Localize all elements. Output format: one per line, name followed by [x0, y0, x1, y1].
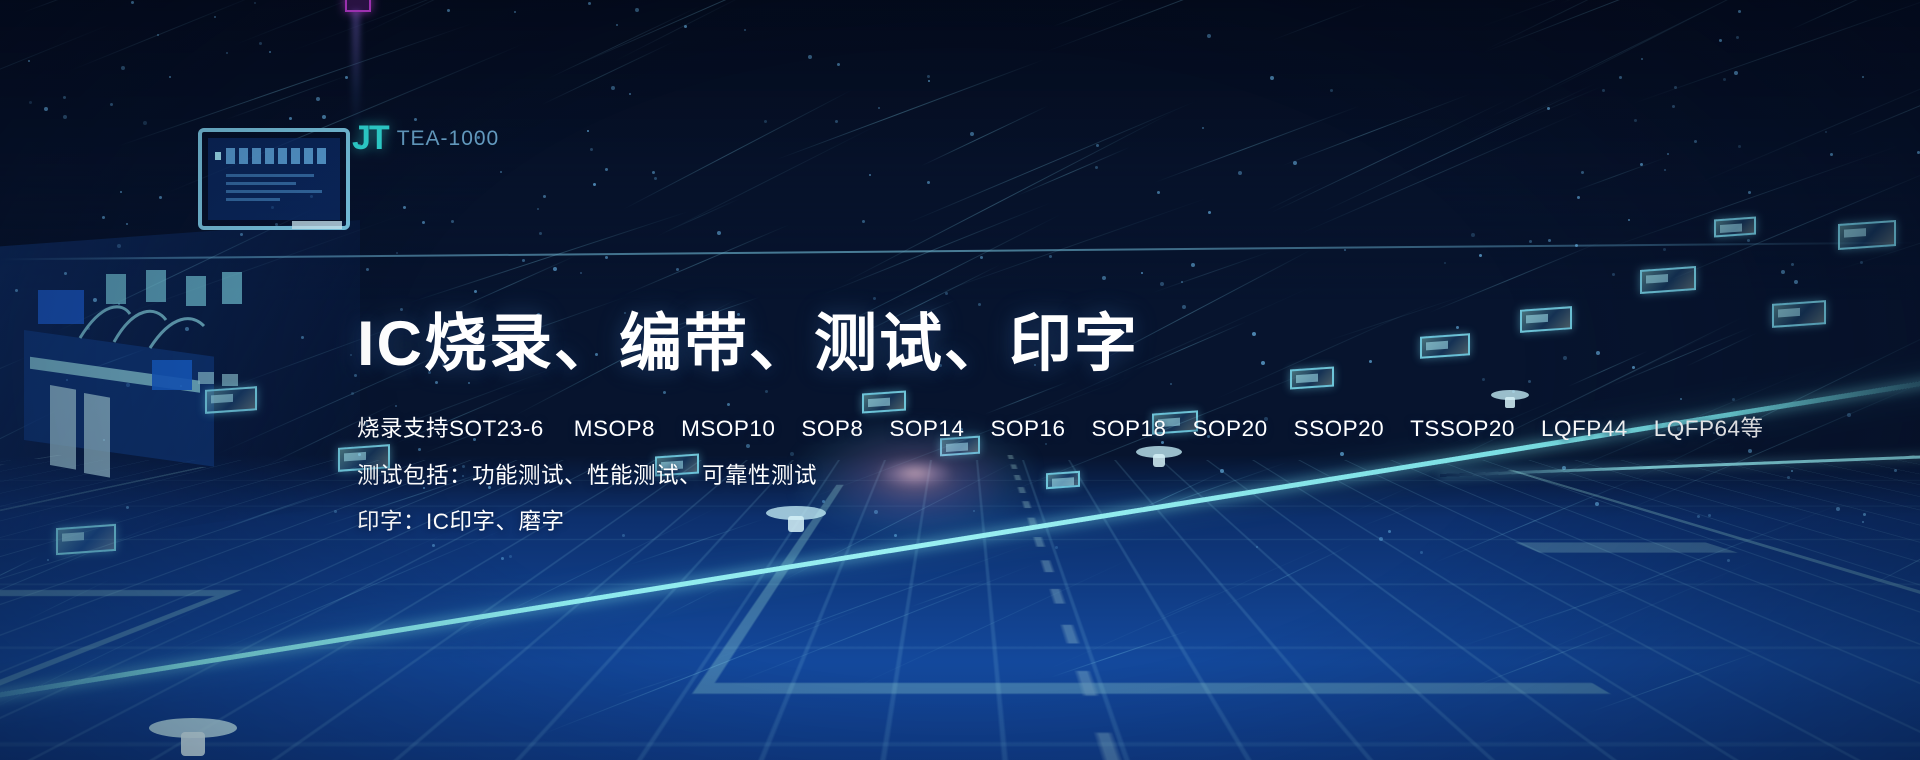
monitor-display-icon — [196, 126, 352, 241]
status-indicator-icon — [345, 0, 371, 12]
light-streak — [1506, 552, 1775, 668]
page-title: IC烧录、编带、测试、印字 — [357, 310, 1617, 378]
light-streak — [562, 0, 893, 72]
light-streak — [546, 5, 701, 80]
light-streak — [614, 0, 754, 62]
light-streak — [1150, 249, 1276, 294]
light-streak — [285, 0, 587, 54]
light-streak — [1460, 94, 1568, 145]
light-streak — [1155, 589, 1223, 620]
light-streak — [1614, 377, 1920, 516]
package-label: SOP16 — [990, 418, 1065, 441]
light-streak — [621, 88, 855, 211]
ic-chip-icon — [1714, 217, 1756, 238]
light-streak — [1573, 157, 1667, 192]
package-label: SSOP20 — [1294, 418, 1385, 441]
package-label: SOP14 — [889, 418, 964, 441]
package-label: SOP8 — [801, 418, 863, 441]
light-streak — [904, 99, 1199, 224]
light-streak — [68, 0, 270, 72]
light-streak — [647, 117, 893, 242]
light-streak — [1479, 0, 1842, 28]
light-streak — [1487, 0, 1799, 119]
logo-model-text: TEA-1000 — [397, 127, 500, 151]
light-streak — [840, 109, 1179, 285]
logo-mark-text: JT — [352, 119, 388, 158]
package-label: MSOP8 — [574, 418, 655, 441]
equipment-logo: JT TEA-1000 — [352, 119, 499, 158]
marking-line: 印字：IC印字、磨字 — [357, 511, 1617, 534]
light-streak — [623, 223, 792, 296]
light-streak — [1791, 0, 1889, 30]
ic-chip-icon — [56, 524, 116, 555]
light-streak — [222, 493, 322, 529]
ic-chip-icon — [1772, 300, 1826, 328]
light-streak — [615, 671, 693, 698]
light-streak — [820, 201, 1053, 296]
light-streak — [26, 579, 111, 621]
light-streak — [0, 595, 227, 721]
light-streak — [662, 586, 724, 618]
pick-head-icon — [148, 718, 238, 760]
light-streak — [1473, 630, 1621, 687]
package-label: MSOP10 — [681, 418, 775, 441]
machine-equipment-icon — [10, 268, 260, 478]
package-label: SOP18 — [1092, 418, 1167, 441]
light-streak — [23, 0, 86, 13]
light-streak — [226, 74, 350, 120]
top-light-beam — [352, 10, 360, 130]
light-streak — [1264, 179, 1328, 212]
hero-content: IC烧录、编带、测试、印字 烧录支持SOT23-6 MSOP8MSOP10SOP… — [357, 310, 1617, 558]
hero-sublines: 烧录支持SOT23-6 MSOP8MSOP10SOP8SOP14SOP16SOP… — [357, 418, 1617, 534]
light-streak — [1269, 3, 1368, 42]
ic-chip-icon — [1640, 266, 1696, 294]
light-streak — [1152, 105, 1360, 184]
light-streak — [1015, 146, 1131, 197]
light-streak — [1693, 47, 1920, 186]
light-streak — [1589, 648, 1768, 713]
light-streak — [1633, 0, 1920, 104]
light-streak — [1427, 240, 1604, 314]
light-streak — [539, 605, 871, 736]
burn-support-prefix: 烧录支持SOT23-6 — [357, 418, 544, 441]
ic-chip-icon — [1838, 220, 1896, 250]
test-scope-line: 测试包括：功能测试、性能测试、可靠性测试 — [357, 465, 1617, 488]
light-streak — [848, 554, 1140, 691]
package-label: LQFP44 — [1541, 418, 1628, 441]
light-streak — [1865, 530, 1920, 589]
light-streak — [1483, 0, 1765, 53]
hero-banner: JT TEA-1000 IC烧录、编带、测试、印字 烧录支持SOT23-6 MS… — [0, 0, 1920, 760]
light-streak — [407, 210, 692, 304]
light-streak — [708, 540, 1038, 662]
package-label: TSSOP20 — [1410, 418, 1515, 441]
light-streak — [1833, 154, 1920, 272]
package-support-line: 烧录支持SOT23-6 MSOP8MSOP10SOP8SOP14SOP16SOP… — [357, 418, 1617, 441]
package-label: LQFP64等 — [1654, 418, 1764, 441]
light-streak — [1319, 83, 1596, 214]
package-label: SOP20 — [1193, 418, 1268, 441]
light-streak — [1296, 109, 1587, 236]
light-streak — [920, 105, 1050, 167]
light-streak — [1484, 0, 1673, 51]
ic-chip-icon — [205, 386, 257, 414]
